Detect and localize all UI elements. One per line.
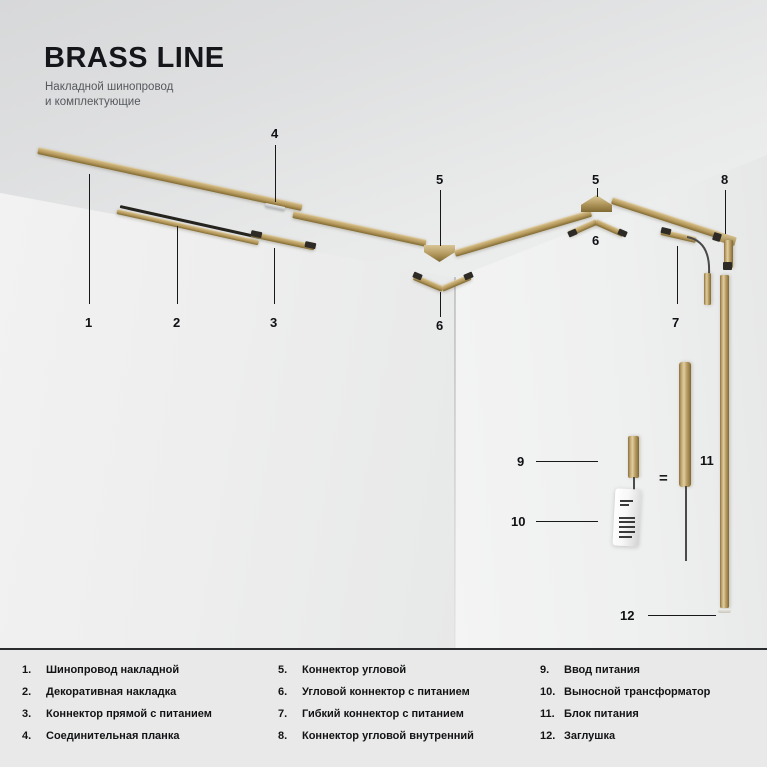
- legend-item-label: Гибкий коннектор с питанием: [302, 708, 464, 721]
- legend-footer: 1. Шинопровод накладной 2. Декоративная …: [0, 650, 767, 767]
- legend-item-label: Декоративная накладка: [46, 686, 176, 699]
- equals-sign: =: [659, 470, 668, 487]
- page-title: BRASS LINE: [44, 42, 225, 75]
- page-subtitle: Накладной шинопровод и комплектующие: [45, 80, 173, 110]
- legend-item-number: 9.: [540, 664, 564, 676]
- leader-line-8: [725, 190, 726, 234]
- leader-line-4: [275, 145, 276, 202]
- callout-number-7: 7: [672, 315, 679, 330]
- leader-line-7: [677, 246, 678, 304]
- callout-number-9: 9: [517, 454, 524, 469]
- callout-number-8: 8: [721, 172, 728, 187]
- callout-number-2: 2: [173, 315, 180, 330]
- legend-item-number: 11.: [540, 708, 564, 720]
- flexible-connector-7-tail: [704, 273, 711, 305]
- power-input-9: [628, 436, 639, 478]
- power-supply-unit-11: [679, 362, 691, 487]
- leader-line-10: [536, 521, 598, 522]
- list-item: 12. Заглушка: [540, 730, 765, 743]
- list-item: 10. Выносной трансформатор: [540, 686, 765, 699]
- list-item: 4. Соединительная планка: [22, 730, 277, 743]
- callout-number-11: 11: [700, 453, 714, 468]
- legend-item-label: Заглушка: [564, 730, 615, 743]
- legend-item-label: Угловой коннектор с питанием: [302, 686, 470, 699]
- leader-line-3: [274, 248, 275, 304]
- connector-8-cap-bottom: [723, 262, 732, 270]
- callout-number-4: 4: [271, 126, 278, 141]
- vertical-track-rail: [720, 275, 729, 608]
- transformer-label-bar-6: [619, 531, 635, 533]
- list-item: 8. Коннектор угловой внутренний: [278, 730, 533, 743]
- wall-corner-edge: [454, 277, 456, 648]
- callout-number-3: 3: [270, 315, 277, 330]
- list-item: 1. Шинопровод накладной: [22, 664, 277, 677]
- legend-item-number: 7.: [278, 708, 302, 720]
- callout-number-1: 1: [85, 315, 92, 330]
- legend-column-2: 5. Коннектор угловой 6. Угловой коннекто…: [278, 664, 533, 752]
- legend-item-number: 5.: [278, 664, 302, 676]
- legend-item-label: Выносной трансформатор: [564, 686, 710, 699]
- legend-item-number: 10.: [540, 686, 564, 698]
- list-item: 7. Гибкий коннектор с питанием: [278, 708, 533, 721]
- legend-item-number: 12.: [540, 730, 564, 742]
- end-cap-12: [718, 609, 731, 613]
- transformer-label-bar-2: [620, 504, 629, 506]
- legend-item-label: Блок питания: [564, 708, 639, 721]
- list-item: 3. Коннектор прямой с питанием: [22, 708, 277, 721]
- leader-line-9: [536, 461, 598, 462]
- leader-line-6a: [440, 292, 441, 317]
- callout-number-12: 12: [620, 608, 634, 623]
- subtitle-line-1: Накладной шинопровод: [45, 80, 173, 95]
- legend-item-number: 8.: [278, 730, 302, 742]
- list-item: 2. Декоративная накладка: [22, 686, 277, 699]
- list-item: 6. Угловой коннектор с питанием: [278, 686, 533, 699]
- callout-number-5b: 5: [592, 172, 599, 187]
- callout-number-6b: 6: [592, 233, 599, 248]
- legend-item-number: 6.: [278, 686, 302, 698]
- legend-item-label: Коннектор угловой внутренний: [302, 730, 474, 743]
- legend-item-number: 2.: [22, 686, 46, 698]
- leader-line-5a: [440, 190, 441, 246]
- transformer-label-bar-1: [620, 500, 633, 502]
- leader-line-1: [89, 174, 90, 304]
- leader-line-2: [177, 226, 178, 304]
- legend-item-label: Ввод питания: [564, 664, 640, 677]
- callout-number-6a: 6: [436, 318, 443, 333]
- legend-item-number: 3.: [22, 708, 46, 720]
- legend-item-label: Коннектор угловой: [302, 664, 406, 677]
- room-scene: BRASS LINE Накладной шинопровод и компле…: [0, 0, 767, 648]
- legend-item-label: Соединительная планка: [46, 730, 179, 743]
- legend-column-3: 9. Ввод питания 10. Выносной трансформат…: [540, 664, 765, 752]
- legend-item-number: 1.: [22, 664, 46, 676]
- callout-number-10: 10: [511, 514, 525, 529]
- list-item: 9. Ввод питания: [540, 664, 765, 677]
- product-diagram-page: BRASS LINE Накладной шинопровод и компле…: [0, 0, 767, 767]
- transformer-label-bar-4: [619, 521, 635, 523]
- legend-item-number: 4.: [22, 730, 46, 742]
- legend-item-label: Коннектор прямой с питанием: [46, 708, 212, 721]
- legend-column-1: 1. Шинопровод накладной 2. Декоративная …: [22, 664, 277, 752]
- leader-line-5b: [597, 188, 598, 197]
- legend-item-label: Шинопровод накладной: [46, 664, 179, 677]
- transformer-label-bar-7: [619, 536, 632, 538]
- subtitle-line-2: и комплектующие: [45, 95, 173, 110]
- list-item: 5. Коннектор угловой: [278, 664, 533, 677]
- callout-number-5a: 5: [436, 172, 443, 187]
- transformer-label-bar-5: [619, 526, 635, 528]
- power-supply-unit-11-cable: [685, 486, 687, 561]
- leader-line-12: [648, 615, 716, 616]
- transformer-label-bar-3: [619, 517, 635, 519]
- list-item: 11. Блок питания: [540, 708, 765, 721]
